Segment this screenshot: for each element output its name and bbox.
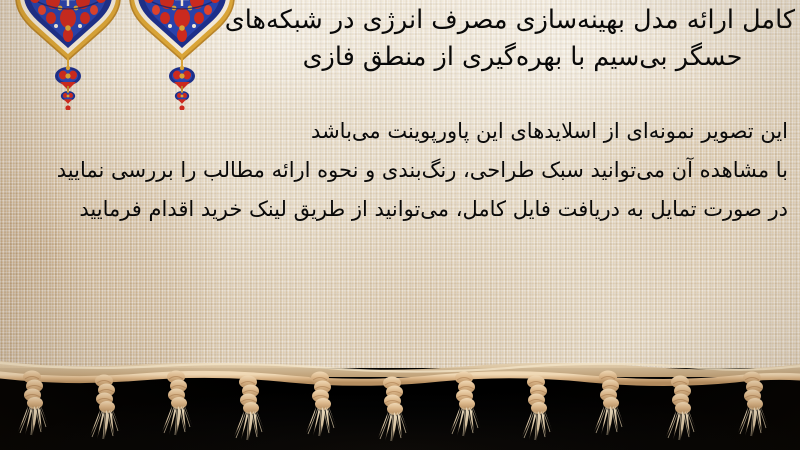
carpet-fringe-band xyxy=(0,355,800,450)
body-line-2: با مشاهده آن می‌توانید سبک طراحی، رنگ‌بن… xyxy=(2,151,788,190)
slide-canvas: کامل ارائه مدل بهینه‌سازی مصرف انرژی در … xyxy=(0,0,800,450)
slide-title: کامل ارائه مدل بهینه‌سازی مصرف انرژی در … xyxy=(250,2,795,76)
title-line-2: حسگر بی‌سیم با بهره‌گیری از منطق فازی xyxy=(250,39,795,76)
slide-body: این تصویر نمونه‌ای از اسلایدهای این پاور… xyxy=(2,112,788,229)
body-line-3: در صورت تمایل به دریافت فایل کامل، می‌تو… xyxy=(2,190,788,229)
body-line-1: این تصویر نمونه‌ای از اسلایدهای این پاور… xyxy=(2,112,788,151)
title-line-1: کامل ارائه مدل بهینه‌سازی مصرف انرژی در … xyxy=(250,2,795,39)
